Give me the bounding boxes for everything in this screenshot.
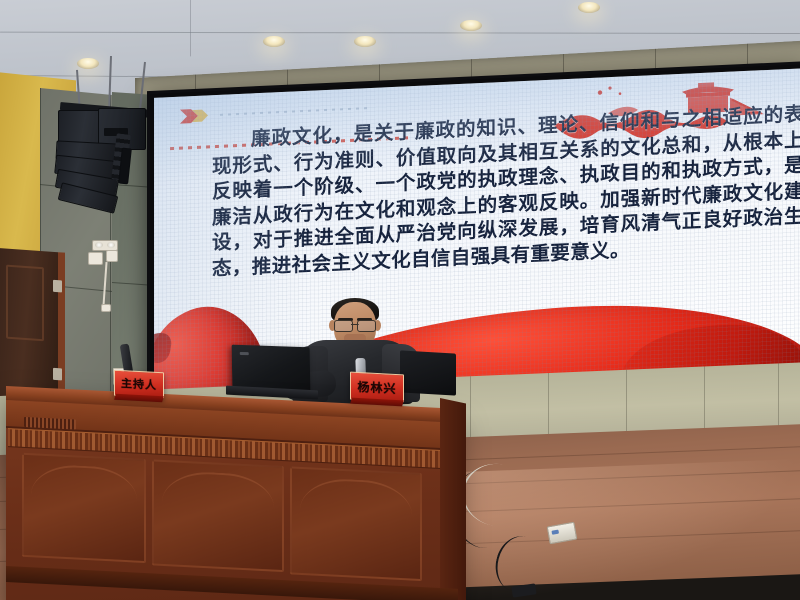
nameplate-speaker: 杨林兴 [350,372,404,403]
slide-body-text: 廉政文化，是关于廉政的知识、理论、信仰和与之相适应的表现形式、行为准则、价值取向… [212,102,800,282]
podium-side [440,398,466,600]
socket-icon[interactable] [101,304,111,312]
monitor-icon [400,350,456,395]
downlight-icon [263,36,285,47]
podium-panel [290,466,422,581]
downlight-icon [578,2,600,13]
socket-icon[interactable] [88,252,103,265]
downlight-icon [354,36,376,47]
podium-panel [152,459,284,572]
nameplate-host-text: 主持人 [121,375,157,393]
door-hinge [53,368,62,381]
double-chevron-icon [180,107,214,125]
nameplate-host: 主持人 [114,370,164,399]
socket-icon[interactable] [106,250,118,262]
nameplate-speaker-text: 杨林兴 [357,377,396,396]
decorative-dotted-line [220,107,370,116]
photo-scene: 廉政文化，是关于廉政的知识、理论、信仰和与之相适应的表现形式、行为准则、价值取向… [0,0,800,600]
downlight-icon [77,58,99,69]
podium-panel [22,453,146,563]
door-hinge [53,280,62,293]
door-panel [6,265,44,342]
eyeglasses-icon [334,320,376,330]
slide-paragraph: 廉政文化，是关于廉政的知识、理论、信仰和与之相适应的表现形式、行为准则、价值取向… [212,102,800,282]
downlight-icon [460,20,482,31]
